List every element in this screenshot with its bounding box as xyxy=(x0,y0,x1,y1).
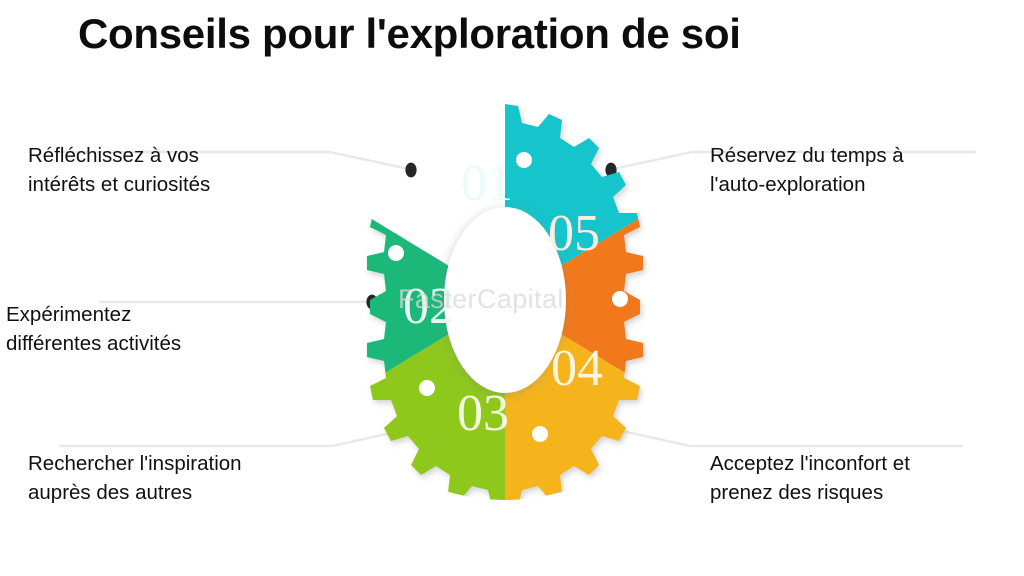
gear-label-03-line1: Rechercher l'inspiration xyxy=(28,449,348,478)
gear-number-01: 01 xyxy=(461,155,513,212)
gear-label-02-line2: différentes activités xyxy=(6,329,326,358)
joint-01-05 xyxy=(516,152,532,168)
gear-label-05: Réservez du temps à l'auto-exploration xyxy=(710,141,1024,199)
gear-label-01: Réfléchissez à vos intérêts et curiosité… xyxy=(28,141,348,199)
gear-label-05-line2: l'auto-exploration xyxy=(710,170,1024,199)
joint-02-03 xyxy=(419,380,435,396)
gear-label-01-line2: intérêts et curiosités xyxy=(28,170,348,199)
slide-canvas: Conseils pour l'exploration de soi xyxy=(0,0,1024,576)
connector-line-03 xyxy=(60,429,409,446)
gear-label-02-line1: Expérimentez xyxy=(6,300,326,329)
gear-label-05-line1: Réservez du temps à xyxy=(710,141,1024,170)
gear-label-01-line1: Réfléchissez à vos xyxy=(28,141,348,170)
connector-line-04 xyxy=(613,429,962,446)
gear-number-03: 03 xyxy=(457,385,509,442)
gear-label-04-line2: prenez des risques xyxy=(710,478,1024,507)
gear-label-03-line2: auprès des autres xyxy=(28,478,348,507)
joint-05-04 xyxy=(612,291,628,307)
gear-label-03: Rechercher l'inspiration auprès des autr… xyxy=(28,449,348,507)
joint-01-02 xyxy=(388,245,404,261)
joint-03-04 xyxy=(532,426,548,442)
gear-label-04-line1: Acceptez l'inconfort et xyxy=(710,449,1024,478)
connector-dot-01 xyxy=(405,163,416,178)
gear-label-04: Acceptez l'inconfort et prenez des risqu… xyxy=(710,449,1024,507)
gear-number-05: 05 xyxy=(548,205,600,262)
gear-number-04: 04 xyxy=(551,340,603,397)
gear-label-02: Expérimentez différentes activités xyxy=(6,300,326,358)
gear-number-02: 02 xyxy=(403,278,455,335)
